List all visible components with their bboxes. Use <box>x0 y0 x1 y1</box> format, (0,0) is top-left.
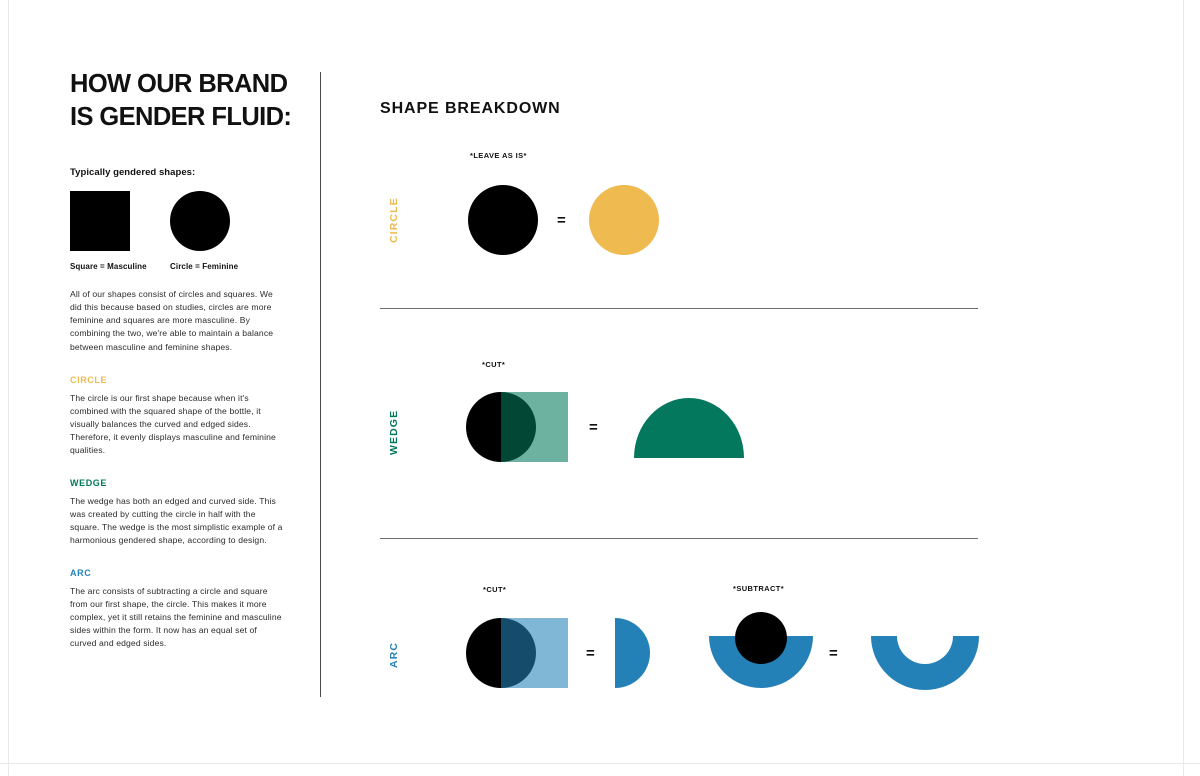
circle-input-black-circle <box>468 185 538 255</box>
gendered-shapes-row: Square = Masculine Circle = Feminine <box>70 191 285 271</box>
arc-cut-input-overlay-square <box>501 618 568 688</box>
page-edge-bottom <box>0 763 1200 764</box>
row-divider-2 <box>380 538 978 539</box>
section-wedge: WEDGE The wedge has both an edged and cu… <box>70 478 285 547</box>
circle-result-gold-circle <box>589 185 659 255</box>
section-body-wedge: The wedge has both an edged and curved s… <box>70 495 285 547</box>
equals-sign-arc-subtract: = <box>829 645 838 662</box>
square-icon <box>70 191 130 251</box>
equals-sign-wedge: = <box>589 419 598 436</box>
op-label-subtract: *SUBTRACT* <box>733 584 784 593</box>
left-column: HOW OUR BRAND IS GENDER FLUID: Typically… <box>70 68 285 650</box>
equals-sign-arc-cut: = <box>586 645 595 662</box>
square-shape-cell: Square = Masculine <box>70 191 170 271</box>
section-arc: ARC The arc consists of subtracting a ci… <box>70 568 285 650</box>
circle-caption: Circle = Feminine <box>170 262 270 271</box>
brand-guidelines-page: HOW OUR BRAND IS GENDER FLUID: Typically… <box>0 0 1200 776</box>
typically-gendered-shapes-label: Typically gendered shapes: <box>70 167 285 178</box>
column-divider <box>320 72 321 697</box>
wedge-result-half-dome <box>634 398 744 458</box>
row-label-arc: ARC <box>388 642 400 668</box>
row-divider-1 <box>380 308 978 309</box>
row-label-circle: CIRCLE <box>388 197 400 243</box>
headline-line-1: HOW OUR BRAND <box>70 70 287 98</box>
equals-sign-circle: = <box>557 212 566 229</box>
intro-block: All of our shapes consist of circles and… <box>70 288 285 353</box>
section-circle: CIRCLE The circle is our first shape bec… <box>70 375 285 457</box>
section-body-circle: The circle is our first shape because wh… <box>70 392 285 457</box>
right-column: SHAPE BREAKDOWN <box>380 100 980 118</box>
section-heading-arc: ARC <box>70 568 285 578</box>
row-label-wedge: WEDGE <box>388 410 400 455</box>
circle-shape-cell: Circle = Feminine <box>170 191 270 271</box>
intro-paragraph: All of our shapes consist of circles and… <box>70 288 285 353</box>
square-caption: Square = Masculine <box>70 262 170 271</box>
arc-subtract-input-black-circle <box>735 612 787 664</box>
section-heading-wedge: WEDGE <box>70 478 285 488</box>
section-heading-circle: CIRCLE <box>70 375 285 385</box>
arc-result-u-shape <box>871 636 979 690</box>
page-edge-right <box>1183 0 1184 776</box>
op-label-cut-arc: *CUT* <box>483 585 506 594</box>
circle-icon <box>170 191 230 251</box>
headline-line-2: IS GENDER FLUID: <box>70 103 291 131</box>
op-label-leave-as-is: *LEAVE AS IS* <box>470 151 527 160</box>
wedge-input-overlay-square <box>501 392 568 462</box>
page-edge-left <box>8 0 9 776</box>
shape-breakdown-title: SHAPE BREAKDOWN <box>380 100 980 118</box>
op-label-cut-wedge: *CUT* <box>482 360 505 369</box>
page-title: HOW OUR BRAND IS GENDER FLUID: <box>70 68 285 134</box>
section-body-arc: The arc consists of subtracting a circle… <box>70 585 285 650</box>
arc-cut-result-half-circle <box>615 618 651 688</box>
